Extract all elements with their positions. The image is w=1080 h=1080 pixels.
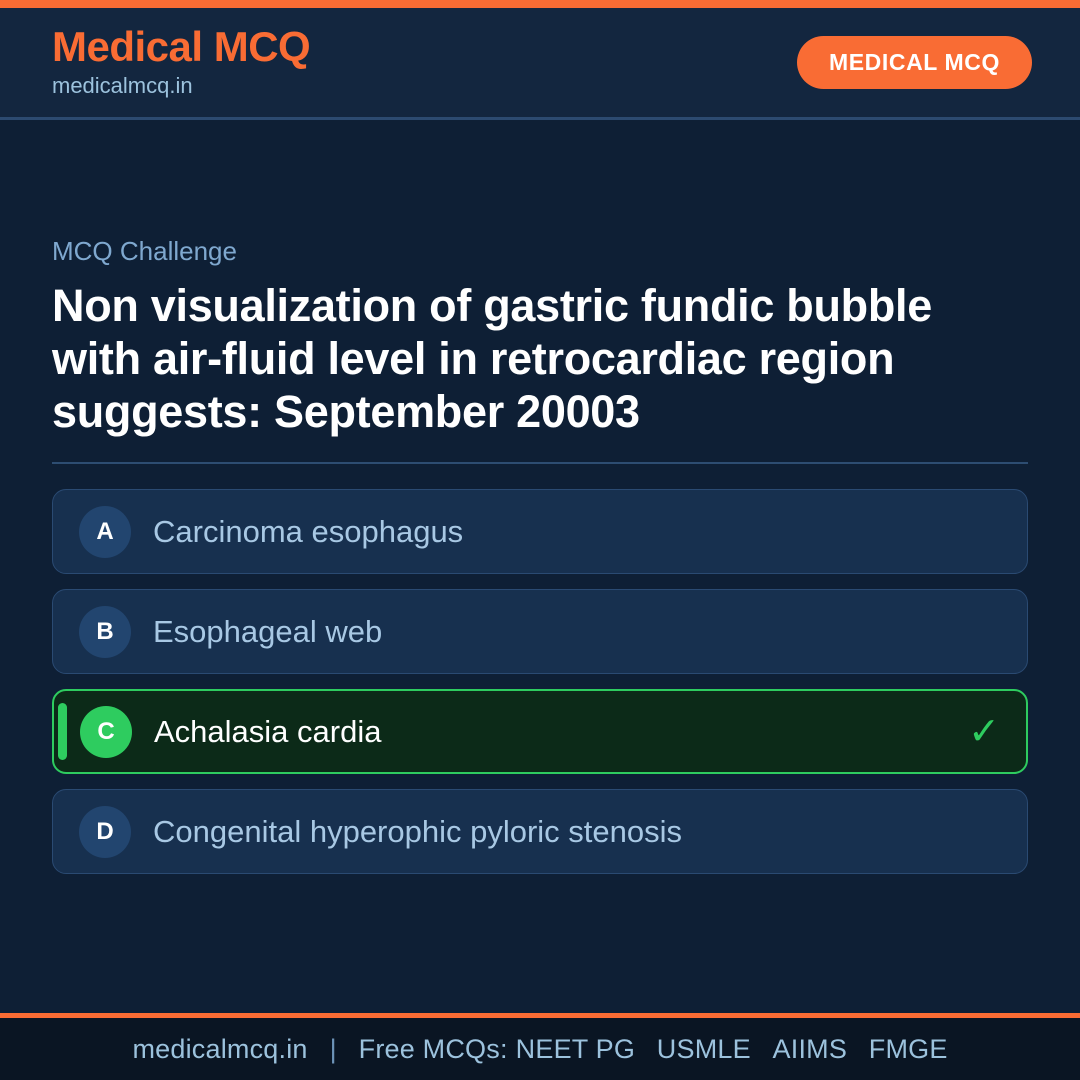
option-a[interactable]: A Carcinoma esophagus: [52, 489, 1028, 574]
option-b[interactable]: B Esophageal web: [52, 589, 1028, 674]
option-letter-badge: C: [80, 706, 132, 758]
brand-block: Medical MCQ medicalmcq.in: [52, 25, 310, 100]
footer-exam-list: NEET PG USMLE AIIMS FMGE: [508, 1034, 948, 1065]
option-label: Achalasia cardia: [154, 713, 381, 750]
footer-exam-fmge: FMGE: [869, 1034, 948, 1064]
option-label: Carcinoma esophagus: [153, 513, 463, 550]
question-text: Non visualization of gastric fundic bubb…: [52, 279, 1028, 438]
footer-separator: |: [330, 1034, 337, 1065]
option-c[interactable]: C Achalasia cardia ✓: [52, 689, 1028, 774]
footer: medicalmcq.in | Free MCQs: NEET PG USMLE…: [0, 1013, 1080, 1080]
footer-exam-aiims: AIIMS: [773, 1034, 848, 1064]
brand-title: Medical MCQ: [52, 25, 310, 69]
option-accent-bar: [58, 703, 67, 760]
option-label: Esophageal web: [153, 613, 382, 650]
top-accent-bar: [0, 0, 1080, 8]
mcq-card: Medical MCQ medicalmcq.in MEDICAL MCQ MC…: [0, 0, 1080, 1080]
brand-url: medicalmcq.in: [52, 72, 310, 100]
option-letter-badge: A: [79, 506, 131, 558]
option-label: Congenital hyperophic pyloric stenosis: [153, 813, 682, 850]
header: Medical MCQ medicalmcq.in MEDICAL MCQ: [0, 8, 1080, 120]
option-letter-badge: B: [79, 606, 131, 658]
question-divider: [52, 462, 1028, 464]
footer-exam-neet-pg: NEET PG: [516, 1034, 635, 1064]
options-list: A Carcinoma esophagus B Esophageal web C…: [52, 489, 1028, 874]
header-badge: MEDICAL MCQ: [797, 36, 1032, 89]
option-d[interactable]: D Congenital hyperophic pyloric stenosis: [52, 789, 1028, 874]
footer-prefix: Free MCQs:: [359, 1034, 508, 1065]
option-letter-badge: D: [79, 806, 131, 858]
footer-site: medicalmcq.in: [132, 1034, 307, 1065]
main-content: MCQ Challenge Non visualization of gastr…: [0, 120, 1080, 1013]
check-icon: ✓: [968, 713, 1000, 751]
kicker-label: MCQ Challenge: [52, 236, 1028, 267]
footer-exam-usmle: USMLE: [657, 1034, 751, 1064]
